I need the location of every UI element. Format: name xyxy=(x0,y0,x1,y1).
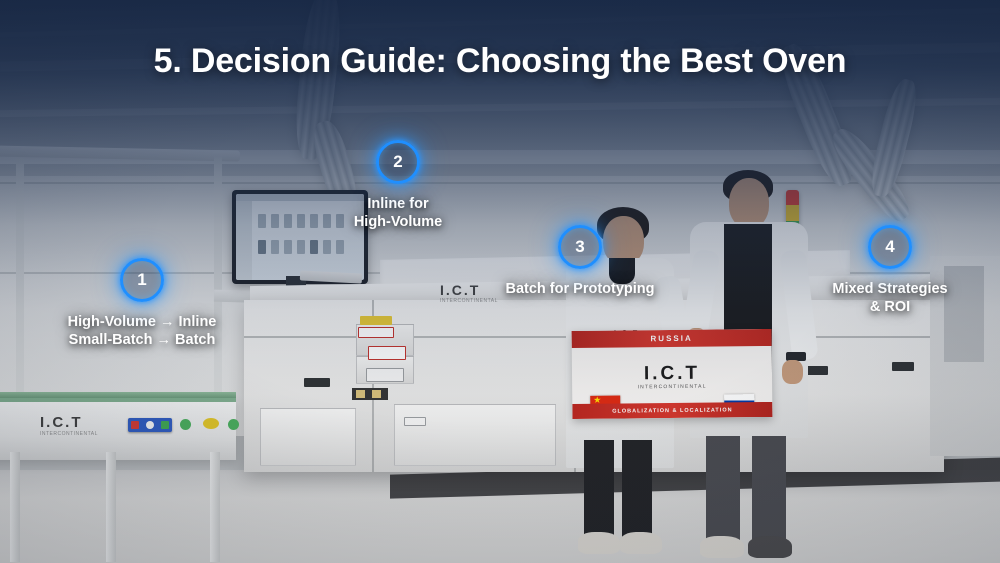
slide-root: I.C.T INTERCONTINENTAL I.C.T INTERCONTIN… xyxy=(0,0,1000,563)
callout-1-badge[interactable]: 1 xyxy=(120,258,164,302)
callout-4-badge[interactable]: 4 xyxy=(868,225,912,269)
callout-4[interactable]: 4 Mixed Strategies & ROI xyxy=(800,225,980,316)
page-title: 5. Decision Guide: Choosing the Best Ove… xyxy=(0,42,1000,81)
callout-2-label: Inline for High-Volume xyxy=(318,195,478,231)
callout-1-label: High-Volume → Inline Small-Batch → Batch xyxy=(32,313,252,349)
callout-3[interactable]: 3 Batch for Prototyping xyxy=(480,225,680,298)
callout-4-label: Mixed Strategies & ROI xyxy=(800,280,980,316)
callout-3-badge[interactable]: 3 xyxy=(558,225,602,269)
callout-1[interactable]: 1 High-Volume → Inline Small-Batch → Bat… xyxy=(32,258,252,349)
callout-2-badge[interactable]: 2 xyxy=(376,140,420,184)
callout-2[interactable]: 2 Inline for High-Volume xyxy=(318,140,478,231)
callout-3-label: Batch for Prototyping xyxy=(480,280,680,298)
